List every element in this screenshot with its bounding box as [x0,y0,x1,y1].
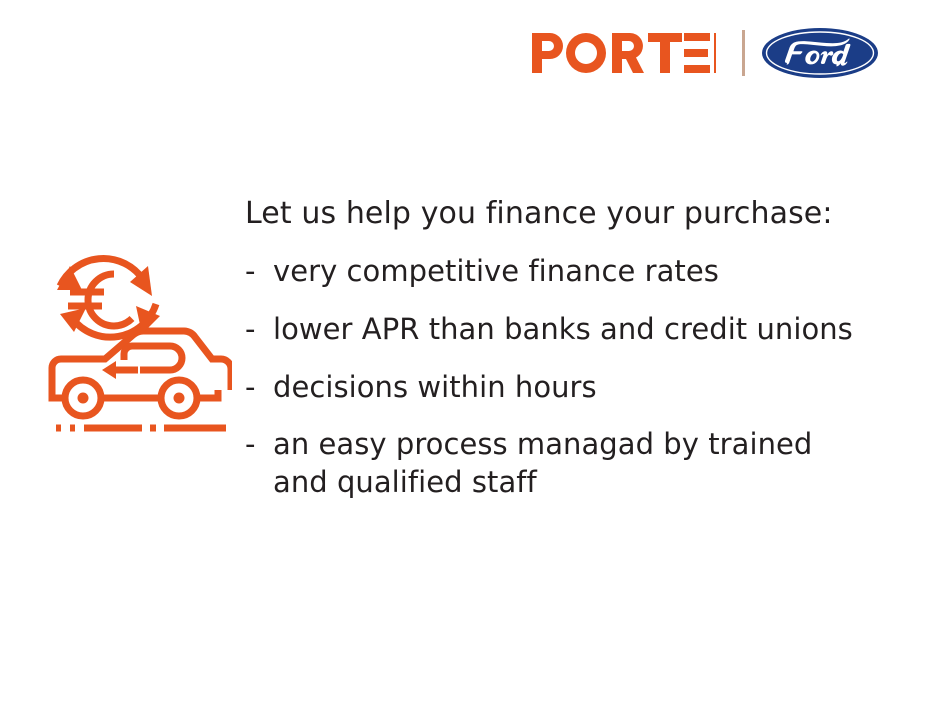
list-item: - an easy process managad by trained and… [245,426,885,501]
list-item: - very competitive finance rates [245,253,885,291]
car-finance-euro-glyph [46,252,232,450]
car-front-hub [78,393,89,404]
brand-lockup [532,24,879,82]
porter-wordmark [532,33,728,73]
list-item-label: very competitive finance rates [273,253,863,291]
list-item-label: lower APR than banks and credit unions [273,311,863,349]
bullet-marker: - [245,426,273,464]
list-item-label: decisions within hours [273,369,863,407]
list-item-label: an easy process managad by trained and q… [273,426,863,501]
bullet-marker: - [245,369,273,407]
bullet-marker: - [245,311,273,349]
car-finance-euro-icon [46,252,232,450]
return-arrow-head [102,361,116,379]
brand-divider [742,30,745,76]
finance-text-block: Let us help you finance your purchase: -… [245,196,885,502]
ford-logo-icon [761,27,879,79]
headline: Let us help you finance your purchase: [245,196,885,231]
bullet-marker: - [245,253,273,291]
euro-c-curve [88,274,132,326]
porter-logotype-icon [532,33,728,73]
return-arrow-path [124,346,182,370]
car-rear-hub [174,393,185,404]
finance-benefits-list: - very competitive finance rates - lower… [245,253,885,501]
slide-canvas: Let us help you finance your purchase: -… [0,0,938,704]
list-item: - lower APR than banks and credit unions [245,311,885,349]
list-item: - decisions within hours [245,369,885,407]
